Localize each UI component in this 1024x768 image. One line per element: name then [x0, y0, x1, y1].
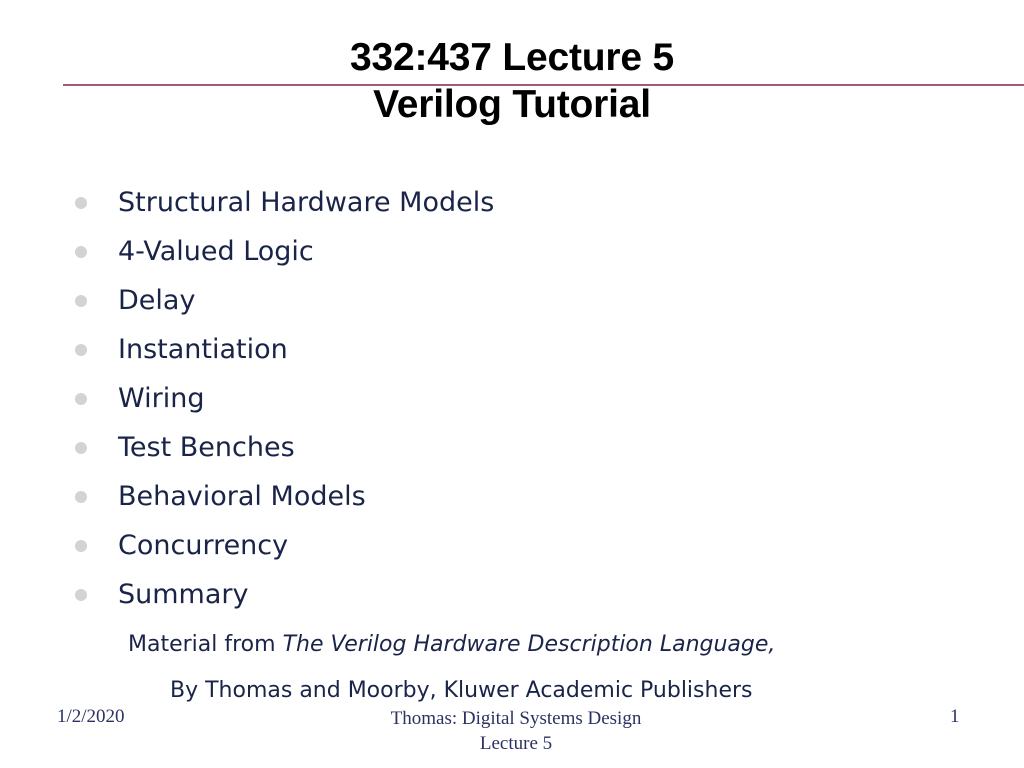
- list-item: Wiring: [60, 374, 960, 423]
- footer-lecture-line: Lecture 5: [8, 731, 1024, 756]
- list-item: Instantiation: [60, 325, 960, 374]
- bullet-label: Wiring: [118, 384, 204, 414]
- bullet-dot-icon: [75, 295, 87, 307]
- list-item: Delay: [60, 276, 960, 325]
- attribution-prefix: Material from: [128, 632, 283, 657]
- bullet-list: Structural Hardware Models 4-Valued Logi…: [60, 178, 960, 619]
- bullet-label: Concurrency: [118, 531, 288, 561]
- bullet-dot-icon: [75, 197, 87, 209]
- list-item: Concurrency: [60, 521, 960, 570]
- bullet-label: Instantiation: [118, 335, 288, 365]
- footer-page-number: 1: [950, 706, 960, 728]
- bullet-label: Delay: [118, 286, 195, 316]
- bullet-label: Summary: [118, 580, 248, 610]
- attribution-line-1: Material from The Verilog Hardware Descr…: [110, 622, 910, 668]
- slide-canvas: 332:437 Lecture 5 Verilog Tutorial Struc…: [0, 0, 1024, 768]
- bullet-dot-icon: [75, 540, 87, 552]
- attribution-book-title: The Verilog Hardware Description Languag…: [283, 632, 776, 657]
- bullet-dot-icon: [75, 344, 87, 356]
- bullet-dot-icon: [75, 442, 87, 454]
- footer-center-text: Thomas: Digital Systems Design Lecture 5: [0, 706, 1024, 756]
- list-item: Summary: [60, 570, 960, 619]
- footer-course-line: Thomas: Digital Systems Design: [8, 706, 1024, 731]
- bullet-label: Behavioral Models: [118, 482, 366, 512]
- title-line-2: Verilog Tutorial: [0, 81, 1024, 128]
- bullet-dot-icon: [75, 589, 87, 601]
- bullet-dot-icon: [75, 246, 87, 258]
- list-item: 4-Valued Logic: [60, 227, 960, 276]
- bullet-label: Structural Hardware Models: [118, 188, 494, 218]
- title-line-1: 332:437 Lecture 5: [0, 34, 1024, 81]
- slide-footer: 1/2/2020 Thomas: Digital Systems Design …: [0, 706, 1024, 766]
- list-item: Test Benches: [60, 423, 960, 472]
- bullet-dot-icon: [75, 393, 87, 405]
- slide-title: 332:437 Lecture 5 Verilog Tutorial: [0, 34, 1024, 128]
- bullet-label: Test Benches: [118, 433, 295, 463]
- bullet-dot-icon: [75, 491, 87, 503]
- bullet-label: 4-Valued Logic: [118, 237, 314, 267]
- list-item: Behavioral Models: [60, 472, 960, 521]
- list-item: Structural Hardware Models: [60, 178, 960, 227]
- source-attribution: Material from The Verilog Hardware Descr…: [110, 622, 910, 714]
